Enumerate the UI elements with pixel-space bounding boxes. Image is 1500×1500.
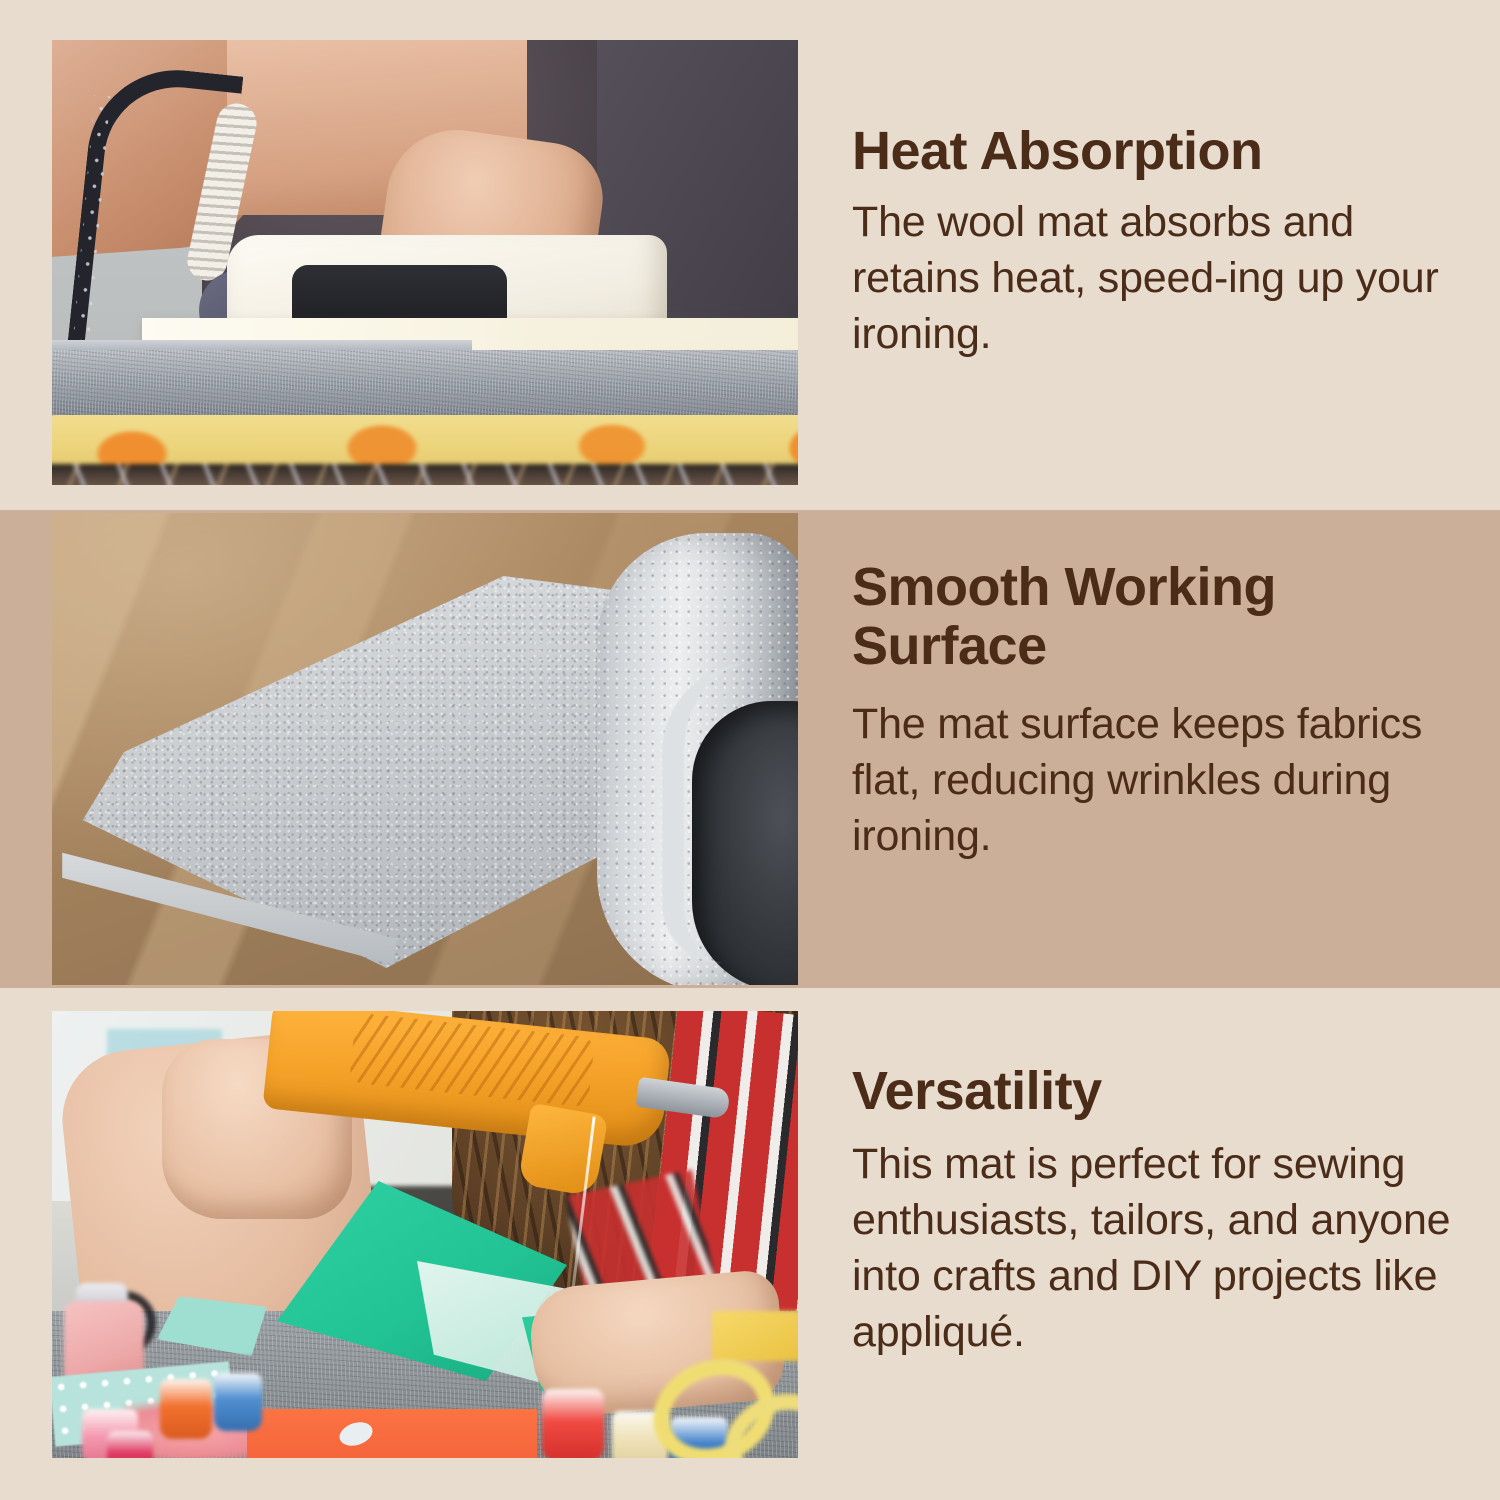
- photo-1-wool-pressing-mat: [52, 350, 798, 425]
- photo-1-wool-mat-texture: [52, 350, 798, 425]
- photo-1-ironing-board-legs: [52, 464, 798, 485]
- infographic-page: Heat Absorption The wool mat absorbs and…: [0, 0, 1500, 1500]
- heading-versatility: Versatility: [852, 1062, 1452, 1121]
- heading-smooth-working-surface: Smooth Working Surface: [852, 558, 1452, 677]
- photo-crafting-with-glue-gun: [52, 1011, 798, 1458]
- photo-3-paint-pot-orange: [160, 1379, 212, 1439]
- text-block-smooth-working-surface: Smooth Working Surface The mat surface k…: [852, 558, 1452, 864]
- photo-2-roll-lip-highlight: [662, 663, 798, 963]
- photo-3-orange-paper: [247, 1409, 537, 1458]
- text-block-versatility: Versatility This mat is perfect for sewi…: [852, 1062, 1452, 1361]
- photo-ironing-with-wool-mat: [52, 40, 798, 485]
- body-smooth-working-surface: The mat surface keeps fabrics flat, redu…: [852, 697, 1452, 865]
- photo-3-paint-pot-magenta: [107, 1431, 153, 1458]
- body-versatility: This mat is perfect for sewing enthusias…: [852, 1137, 1452, 1361]
- photo-3-paint-pot-blue: [214, 1373, 262, 1431]
- text-block-heat-absorption: Heat Absorption The wool mat absorbs and…: [852, 122, 1452, 363]
- body-heat-absorption: The wool mat absorbs and retains heat, s…: [852, 195, 1452, 363]
- photo-3-paint-pot-red: [542, 1389, 604, 1458]
- photo-rolled-wool-mat: [52, 513, 798, 985]
- photo-3-yellow-paper: [712, 1311, 798, 1361]
- heading-heat-absorption: Heat Absorption: [852, 122, 1452, 181]
